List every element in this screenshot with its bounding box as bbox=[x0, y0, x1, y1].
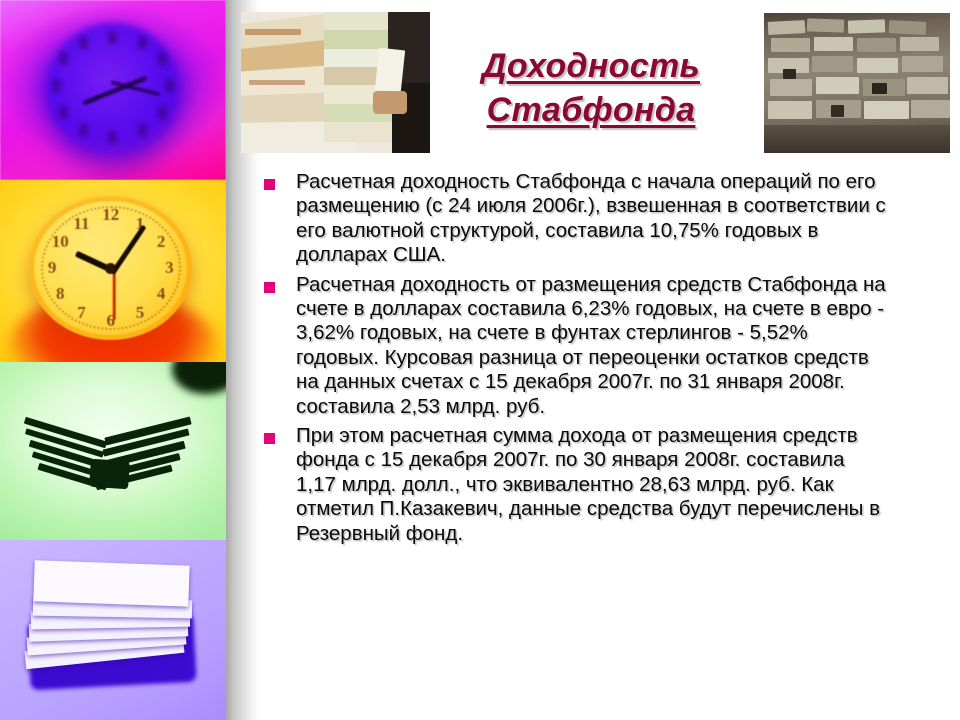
clock-violet-numerals bbox=[0, 0, 226, 180]
money-stacks-photo bbox=[241, 12, 430, 153]
presentation-slide: 12 1 2 3 4 5 6 7 8 9 10 11 bbox=[0, 0, 960, 720]
clock-numeral-3: 3 bbox=[165, 258, 174, 278]
papers-violet-photo bbox=[0, 540, 226, 720]
clock-violet-photo bbox=[0, 0, 226, 180]
clock-numeral-4: 4 bbox=[157, 284, 166, 304]
clock-numeral-11: 11 bbox=[73, 214, 89, 234]
clock-numeral-9: 9 bbox=[48, 258, 57, 278]
banknotes-green-photo bbox=[0, 362, 226, 540]
square-bullet-icon bbox=[264, 179, 275, 190]
cash-piles-texture bbox=[764, 13, 950, 153]
green-photo-dark-corner bbox=[172, 362, 226, 394]
clock-numeral-8: 8 bbox=[56, 284, 65, 304]
clock-yellow-center-pin bbox=[105, 263, 116, 274]
cash-piles-photo bbox=[764, 13, 950, 153]
list-item: Расчетная доходность Стабфонда с начала … bbox=[262, 170, 887, 268]
list-item: Расчетная доходность от размещения средс… bbox=[262, 273, 887, 419]
sidebar-image-strip: 12 1 2 3 4 5 6 7 8 9 10 11 bbox=[0, 0, 226, 720]
clock-yellow-second-hand bbox=[112, 267, 115, 321]
green-banknote-stack bbox=[23, 408, 199, 501]
clock-numeral-2: 2 bbox=[157, 232, 166, 252]
title-line-1: Доходность bbox=[436, 44, 746, 88]
title-line-2: Стабфонда bbox=[436, 88, 746, 132]
bullet-text: При этом расчетная сумма дохода от разме… bbox=[296, 424, 887, 546]
clock-numeral-10: 10 bbox=[52, 232, 69, 252]
clock-yellow-face: 12 1 2 3 4 5 6 7 8 9 10 11 bbox=[29, 196, 192, 340]
list-item: При этом расчетная сумма дохода от разме… bbox=[262, 424, 887, 546]
square-bullet-icon bbox=[264, 282, 275, 293]
bullet-text: Расчетная доходность Стабфонда с начала … bbox=[296, 170, 887, 268]
money-stacks-texture bbox=[241, 12, 430, 153]
clock-numeral-7: 7 bbox=[77, 303, 86, 323]
page-title: Доходность Стабфонда bbox=[436, 44, 746, 132]
clock-yellow-photo: 12 1 2 3 4 5 6 7 8 9 10 11 bbox=[0, 180, 226, 362]
clock-numeral-12: 12 bbox=[102, 205, 119, 225]
violet-paper-stack bbox=[18, 558, 199, 695]
bullet-text: Расчетная доходность от размещения средс… bbox=[296, 273, 887, 419]
bullet-list: Расчетная доходность Стабфонда с начала … bbox=[262, 170, 887, 551]
square-bullet-icon bbox=[264, 433, 275, 444]
clock-numeral-5: 5 bbox=[136, 303, 145, 323]
